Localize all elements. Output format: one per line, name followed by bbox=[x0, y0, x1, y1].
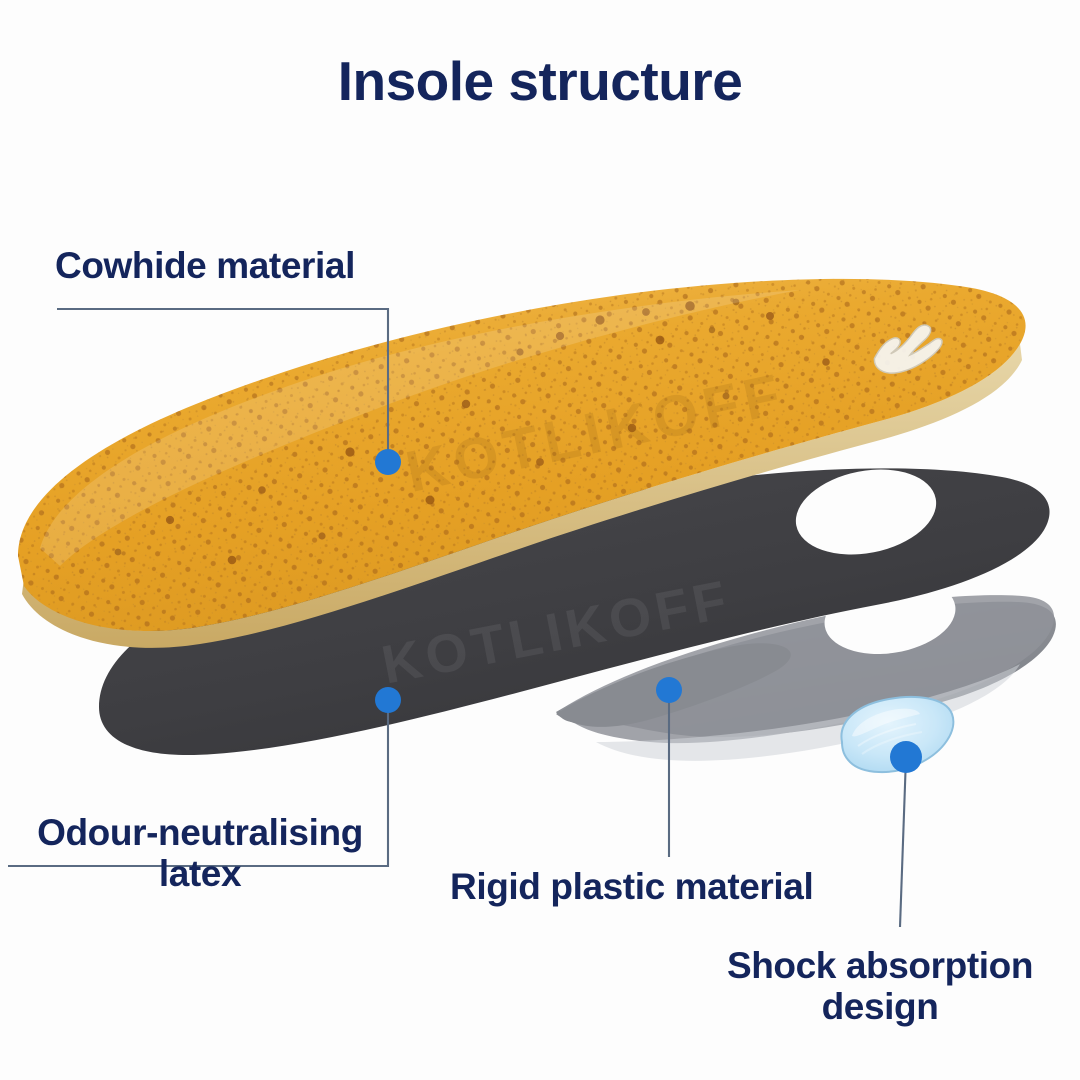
callout-label-odour-latex: Odour-neutralising latex bbox=[0, 812, 400, 895]
callout-label-shock-absorption: Shock absorption design bbox=[680, 945, 1080, 1028]
callout-dot-icon-odour-latex[interactable] bbox=[375, 687, 401, 713]
callout-dot-icon-cowhide[interactable] bbox=[375, 449, 401, 475]
callout-dot-icon-rigid-plastic[interactable] bbox=[656, 677, 682, 703]
callout-dot-icon-shock-absorption[interactable] bbox=[890, 741, 922, 773]
callout-label-cowhide: Cowhide material bbox=[55, 245, 475, 286]
insole-exploded-diagram: KOTLIKOFF bbox=[0, 0, 1080, 1080]
insole-structure-infographic: Insole structure bbox=[0, 0, 1080, 1080]
leader-line-shock-absorption bbox=[900, 757, 906, 927]
callout-label-rigid-plastic: Rigid plastic material bbox=[450, 866, 900, 907]
